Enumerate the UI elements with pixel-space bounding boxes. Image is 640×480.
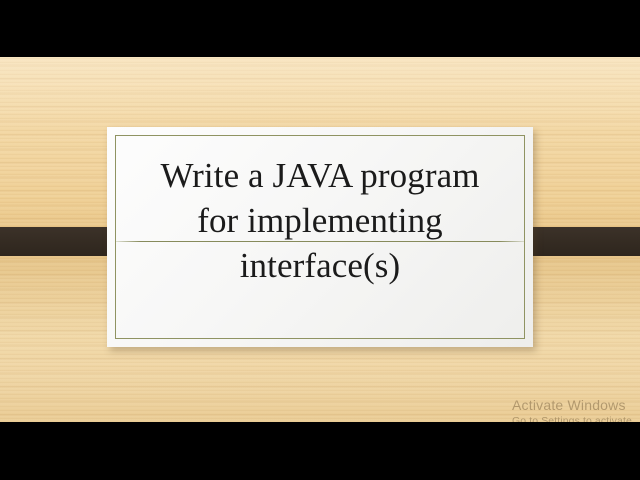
accent-bar-right [521,227,640,256]
letterbox-bar-bottom [0,422,640,480]
watermark-subtitle: Go to Settings to activate [512,414,640,422]
title-card: Write a JAVA program for implementing in… [107,127,533,347]
watermark-title: Activate Windows [512,396,640,414]
presentation-slide: Write a JAVA program for implementing in… [0,57,640,422]
slide-title: Write a JAVA program for implementing in… [121,153,519,288]
slide-title-line-1: Write a JAVA program [121,153,519,198]
letterbox-bar-top [0,0,640,57]
slide-title-line-3: interface(s) [121,243,519,288]
slide-title-line-2: for implementing [121,198,519,243]
video-player-screen: Write a JAVA program for implementing in… [0,0,640,480]
activate-windows-watermark: Activate Windows Go to Settings to activ… [512,396,640,422]
accent-bar-left [0,227,115,256]
